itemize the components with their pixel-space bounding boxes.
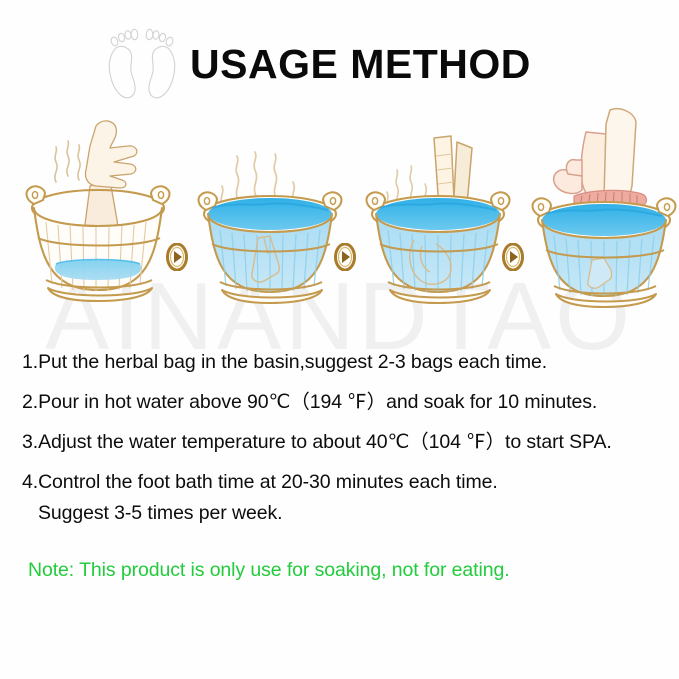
panel-basin-filled-hot-water — [190, 104, 352, 326]
illustration-strip — [0, 104, 679, 326]
play-arrow-icon — [502, 243, 524, 271]
instruction-step-4: 4.Control the foot bath time at 20-30 mi… — [22, 473, 498, 493]
instruction-step-3: 3.Adjust the water temperature to about … — [22, 433, 612, 453]
panel-hand-dropping-herbal-bag — [18, 104, 180, 326]
footprints-icon — [96, 22, 188, 104]
play-arrow-icon — [166, 243, 188, 271]
instruction-step-2: 2.Pour in hot water above 90℃（194 ℉）and … — [22, 393, 597, 413]
note-warning-text: Note: This product is only use for soaki… — [28, 561, 510, 581]
play-arrow-icon — [334, 243, 356, 271]
page-title: USAGE METHOD — [190, 44, 531, 85]
instruction-step-1: 1.Put the herbal bag in the basin,sugges… — [22, 353, 547, 373]
usage-method-infographic: AINANDTAO — [0, 0, 679, 679]
header: USAGE METHOD — [0, 0, 679, 118]
panel-feet-soaking-in-basin — [524, 104, 679, 326]
panel-thermometer-measuring-temperature — [358, 104, 520, 326]
instruction-step-4-continued: Suggest 3-5 times per week. — [38, 504, 282, 524]
